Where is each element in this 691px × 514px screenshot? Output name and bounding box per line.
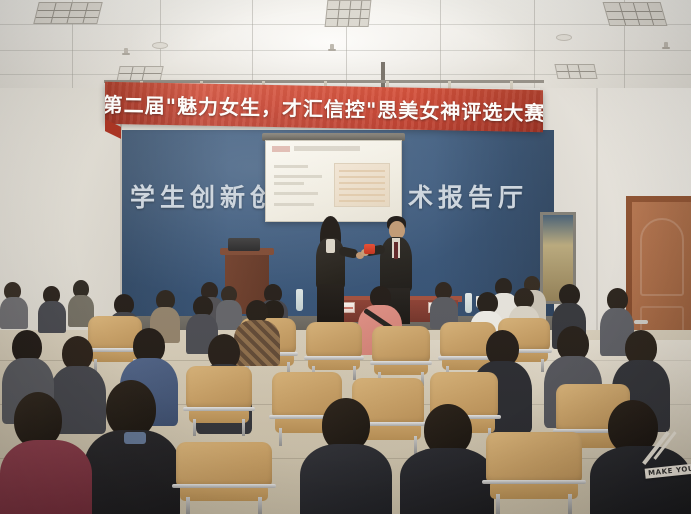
event-banner: 第二届"魅力女生，才汇信控"思美女神评选大赛 (105, 82, 543, 132)
sprinkler-head (330, 44, 334, 51)
venue-wall-text-left: 学生创新创 (130, 183, 280, 212)
torso (300, 444, 392, 514)
ceiling-light-fixture (33, 2, 102, 24)
tie (394, 242, 398, 259)
sprinkler-head (124, 48, 128, 55)
door-handle[interactable] (634, 320, 648, 324)
audience-person-foreground (0, 392, 92, 514)
ceiling-light-fixture (603, 2, 668, 26)
skirt (317, 284, 344, 324)
ceiling-light-fixture (325, 0, 372, 27)
audience-person-foreground-labeled (590, 400, 691, 514)
audience-person (38, 286, 66, 330)
torso (590, 446, 691, 514)
stage-speaker-female (312, 218, 348, 322)
ceiling (0, 0, 691, 92)
projection-screen (265, 140, 402, 222)
red-gift-object (364, 244, 375, 254)
event-photo: 学生创新创 术报告厅 第二届"魅力女生，才汇信控"思美女神评选大赛 (0, 0, 691, 514)
slide-accent-bar (272, 146, 290, 152)
chair[interactable] (486, 432, 582, 514)
chair[interactable] (372, 326, 430, 386)
sprinkler-head (664, 42, 668, 49)
water-bottle (296, 289, 303, 311)
torso (0, 440, 92, 514)
audience-person (0, 282, 28, 326)
venue-wall-text-right: 术报告厅 (408, 178, 528, 214)
door-panel-upper (640, 218, 684, 296)
chair[interactable] (176, 442, 272, 514)
audience-person-foreground (400, 404, 494, 514)
audience-person-foreground (300, 398, 392, 514)
slide-image-placeholder (334, 163, 390, 207)
torso (0, 297, 28, 329)
torso (400, 448, 494, 514)
slide-title-placeholder (294, 146, 360, 151)
shirt-collar (124, 432, 146, 444)
chair[interactable] (186, 366, 252, 436)
ceiling-light-fixture (554, 64, 597, 79)
audience-person-foreground (84, 380, 180, 514)
shirt-collar (326, 239, 335, 253)
laptop (228, 238, 260, 251)
torso (38, 301, 66, 333)
smoke-detector (152, 42, 168, 49)
smoke-detector (556, 34, 572, 41)
event-banner-text: 第二届"魅力女生，才汇信控"思美女神评选大赛 (105, 82, 543, 132)
audience-person (430, 282, 458, 326)
